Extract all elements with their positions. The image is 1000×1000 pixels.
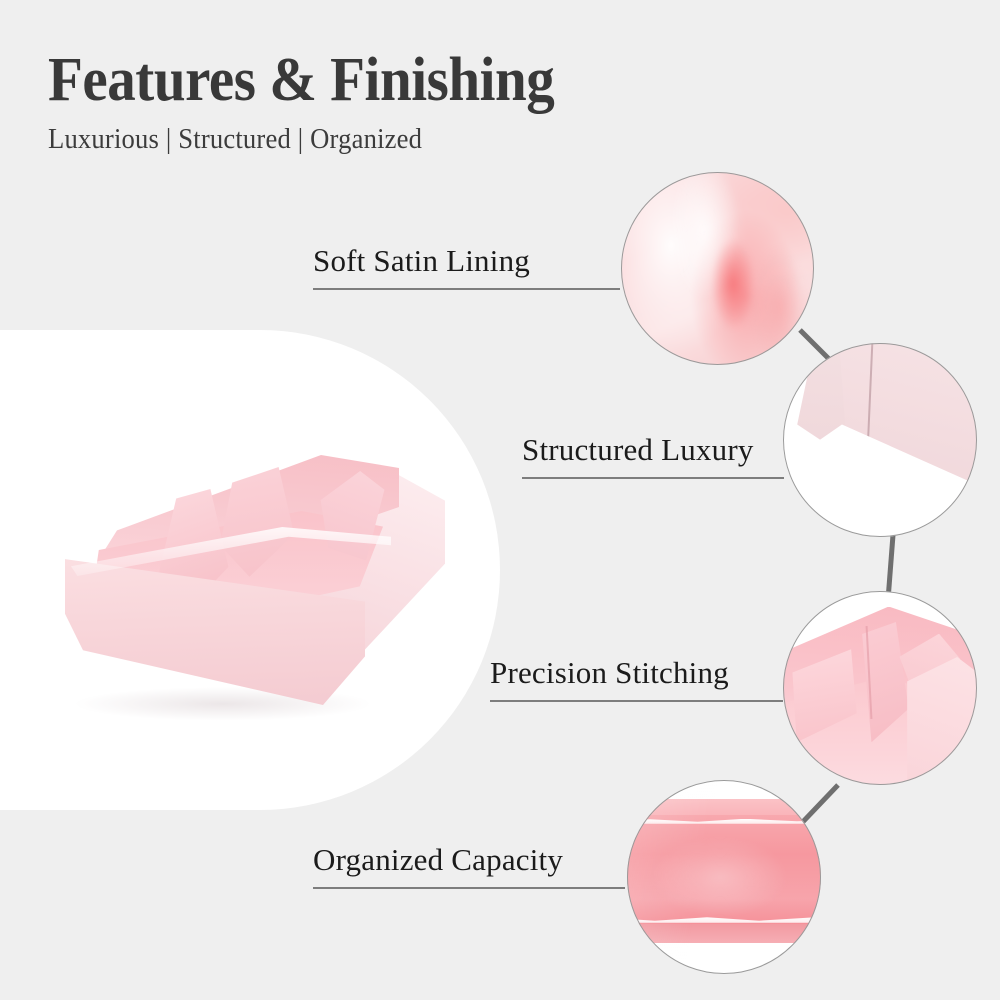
feature-photo-soft-satin-lining: [621, 172, 814, 365]
pocket-band-sheen: [627, 780, 821, 974]
feature-label-text: Organized Capacity: [313, 842, 625, 878]
feature-label-text: Precision Stitching: [490, 655, 783, 691]
feature-label-text: Structured Luxury: [522, 432, 784, 468]
feature-label-precision-stitching: Precision Stitching: [490, 655, 783, 702]
feature-photo-precision-stitching: [783, 591, 977, 785]
feature-label-organized-capacity: Organized Capacity: [313, 842, 625, 889]
feature-label-structured-luxury: Structured Luxury: [522, 432, 784, 479]
feature-label-text: Soft Satin Lining: [313, 243, 620, 279]
feature-photo-structured-luxury: [783, 343, 977, 537]
feature-label-rule: [313, 288, 620, 290]
feature-label-rule: [522, 477, 784, 479]
feature-label-rule: [313, 887, 625, 889]
feature-label-soft-satin-lining: Soft Satin Lining: [313, 243, 620, 290]
satin-fold-accent: [621, 172, 814, 365]
feature-photo-organized-capacity: [627, 780, 821, 974]
feature-label-rule: [490, 700, 783, 702]
connector-line-2: [888, 535, 893, 600]
